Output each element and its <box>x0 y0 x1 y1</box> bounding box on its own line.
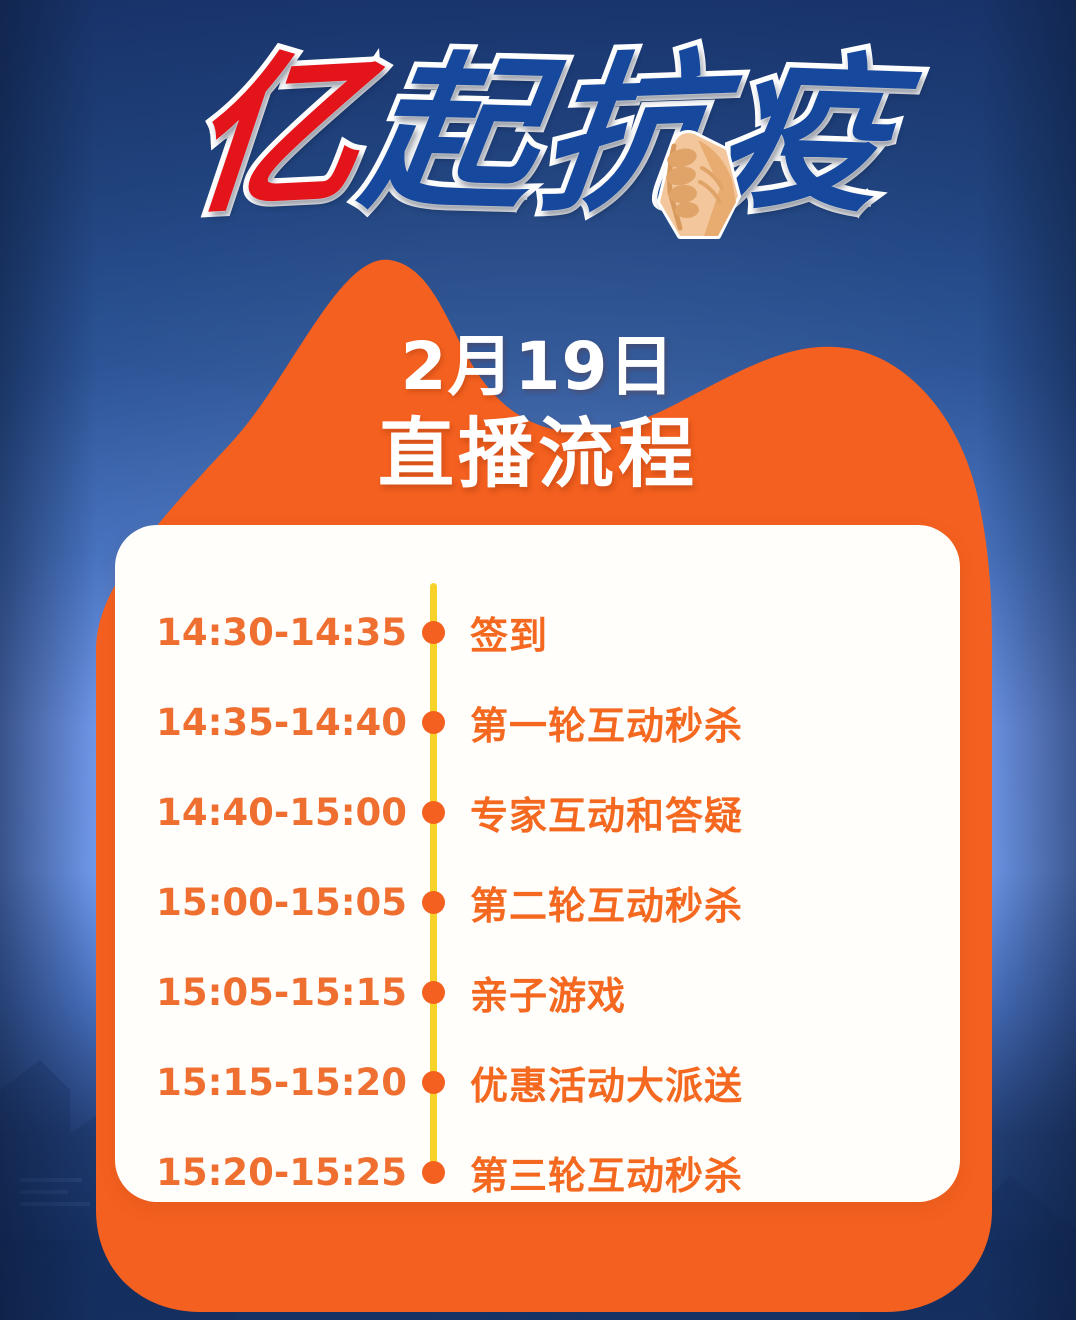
calligraphy-char-1: 亿 <box>183 46 365 222</box>
poster-header: 亿 起 抗 疫 <box>0 14 1076 254</box>
calligraphy-title: 亿 起 抗 疫 <box>0 14 1076 254</box>
schedule-row: 15:20-15:25第三轮互动秒杀 <box>115 1143 960 1201</box>
timeline-dot-icon <box>422 801 445 824</box>
timeline-dot-icon <box>422 981 445 1004</box>
timeline-dot-icon <box>422 621 445 644</box>
schedule-row: 14:35-14:40第一轮互动秒杀 <box>115 693 960 751</box>
schedule-row-label: 第二轮互动秒杀 <box>470 875 743 930</box>
schedule-row: 15:05-15:15亲子游戏 <box>115 963 960 1021</box>
schedule-row: 15:00-15:05第二轮互动秒杀 <box>115 873 960 931</box>
schedule-row: 14:40-15:00专家互动和答疑 <box>115 783 960 841</box>
schedule-row-time: 15:00-15:05 <box>115 881 407 924</box>
calligraphy-char-3: 抗 <box>532 47 720 221</box>
schedule-row-label: 签到 <box>470 605 548 660</box>
schedule-row-label: 优惠活动大派送 <box>470 1055 743 1110</box>
timeline-dot-icon <box>422 1071 445 1094</box>
timeline-dot-icon <box>422 891 445 914</box>
timeline-dot-icon <box>422 1161 445 1184</box>
schedule-row-time: 14:35-14:40 <box>115 701 407 744</box>
schedule-row-time: 15:05-15:15 <box>115 971 407 1014</box>
calligraphy-char-4: 疫 <box>708 47 897 221</box>
schedule-row-time: 15:15-15:20 <box>115 1061 407 1104</box>
livestream-schedule-poster: 亿 起 抗 疫 <box>0 0 1076 1320</box>
calligraphy-char-2: 起 <box>355 48 545 220</box>
schedule-row-time: 15:20-15:25 <box>115 1151 407 1194</box>
schedule-row-time: 14:40-15:00 <box>115 791 407 834</box>
timeline-dot-icon <box>422 711 445 734</box>
schedule-row: 15:15-15:20优惠活动大派送 <box>115 1053 960 1111</box>
schedule-row-label: 第一轮互动秒杀 <box>470 695 743 750</box>
schedule-row-label: 第三轮互动秒杀 <box>470 1145 743 1200</box>
schedule-list: 14:30-14:35签到14:35-14:40第一轮互动秒杀14:40-15:… <box>115 525 960 1202</box>
schedule-row-label: 亲子游戏 <box>470 965 626 1020</box>
schedule-row: 14:30-14:35签到 <box>115 603 960 661</box>
schedule-card: 14:30-14:35签到14:35-14:40第一轮互动秒杀14:40-15:… <box>115 525 960 1202</box>
schedule-row-time: 14:30-14:35 <box>115 611 407 654</box>
schedule-row-label: 专家互动和答疑 <box>470 785 743 840</box>
